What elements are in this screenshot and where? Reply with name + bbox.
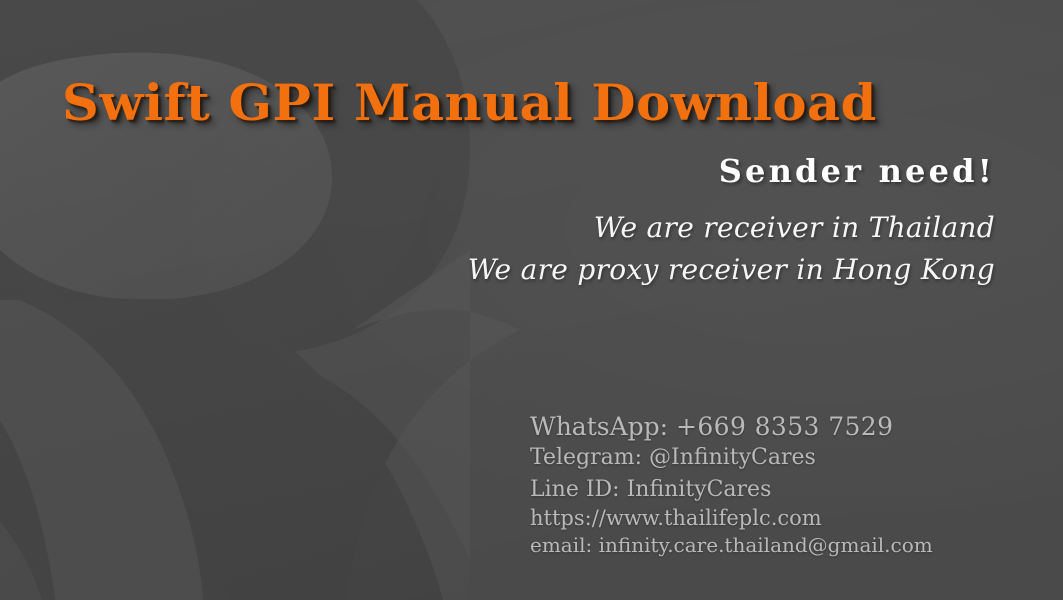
presentation-slide: Swift GPI Manual Download Sender need! W… (0, 0, 1063, 600)
subtitle-sender-need: Sender need! (719, 155, 995, 187)
contact-email-value[interactable]: infinity.care.thailand@gmail.com (599, 533, 933, 557)
contact-telegram: Telegram: @InfinityCares (530, 447, 933, 469)
page-title: Swift GPI Manual Download (62, 78, 1021, 128)
contact-block: WhatsApp: +669 8353 7529 Telegram: @Infi… (530, 414, 933, 555)
contact-line-id-value: InfinityCares (627, 477, 772, 502)
contact-email-label: email: (530, 533, 592, 557)
contact-website[interactable]: https://www.thailifeplc.com (530, 508, 933, 529)
contact-line-id: Line ID: InfinityCares (530, 479, 933, 501)
contact-website-value[interactable]: https://www.thailifeplc.com (530, 506, 822, 530)
contact-whatsapp: WhatsApp: +669 8353 7529 (530, 414, 933, 439)
statement-line-1: We are receiver in Thailand (594, 214, 995, 242)
contact-telegram-label: Telegram: (530, 445, 642, 470)
contact-whatsapp-value: +669 8353 7529 (676, 412, 893, 441)
contact-telegram-value: @InfinityCares (649, 445, 816, 470)
contact-email[interactable]: email: infinity.care.thailand@gmail.com (530, 535, 933, 555)
contact-line-id-label: Line ID: (530, 477, 620, 502)
slide-content: Swift GPI Manual Download Sender need! W… (0, 0, 1063, 600)
statement-line-2: We are proxy receiver in Hong Kong (468, 256, 995, 284)
contact-whatsapp-label: WhatsApp: (530, 412, 668, 441)
